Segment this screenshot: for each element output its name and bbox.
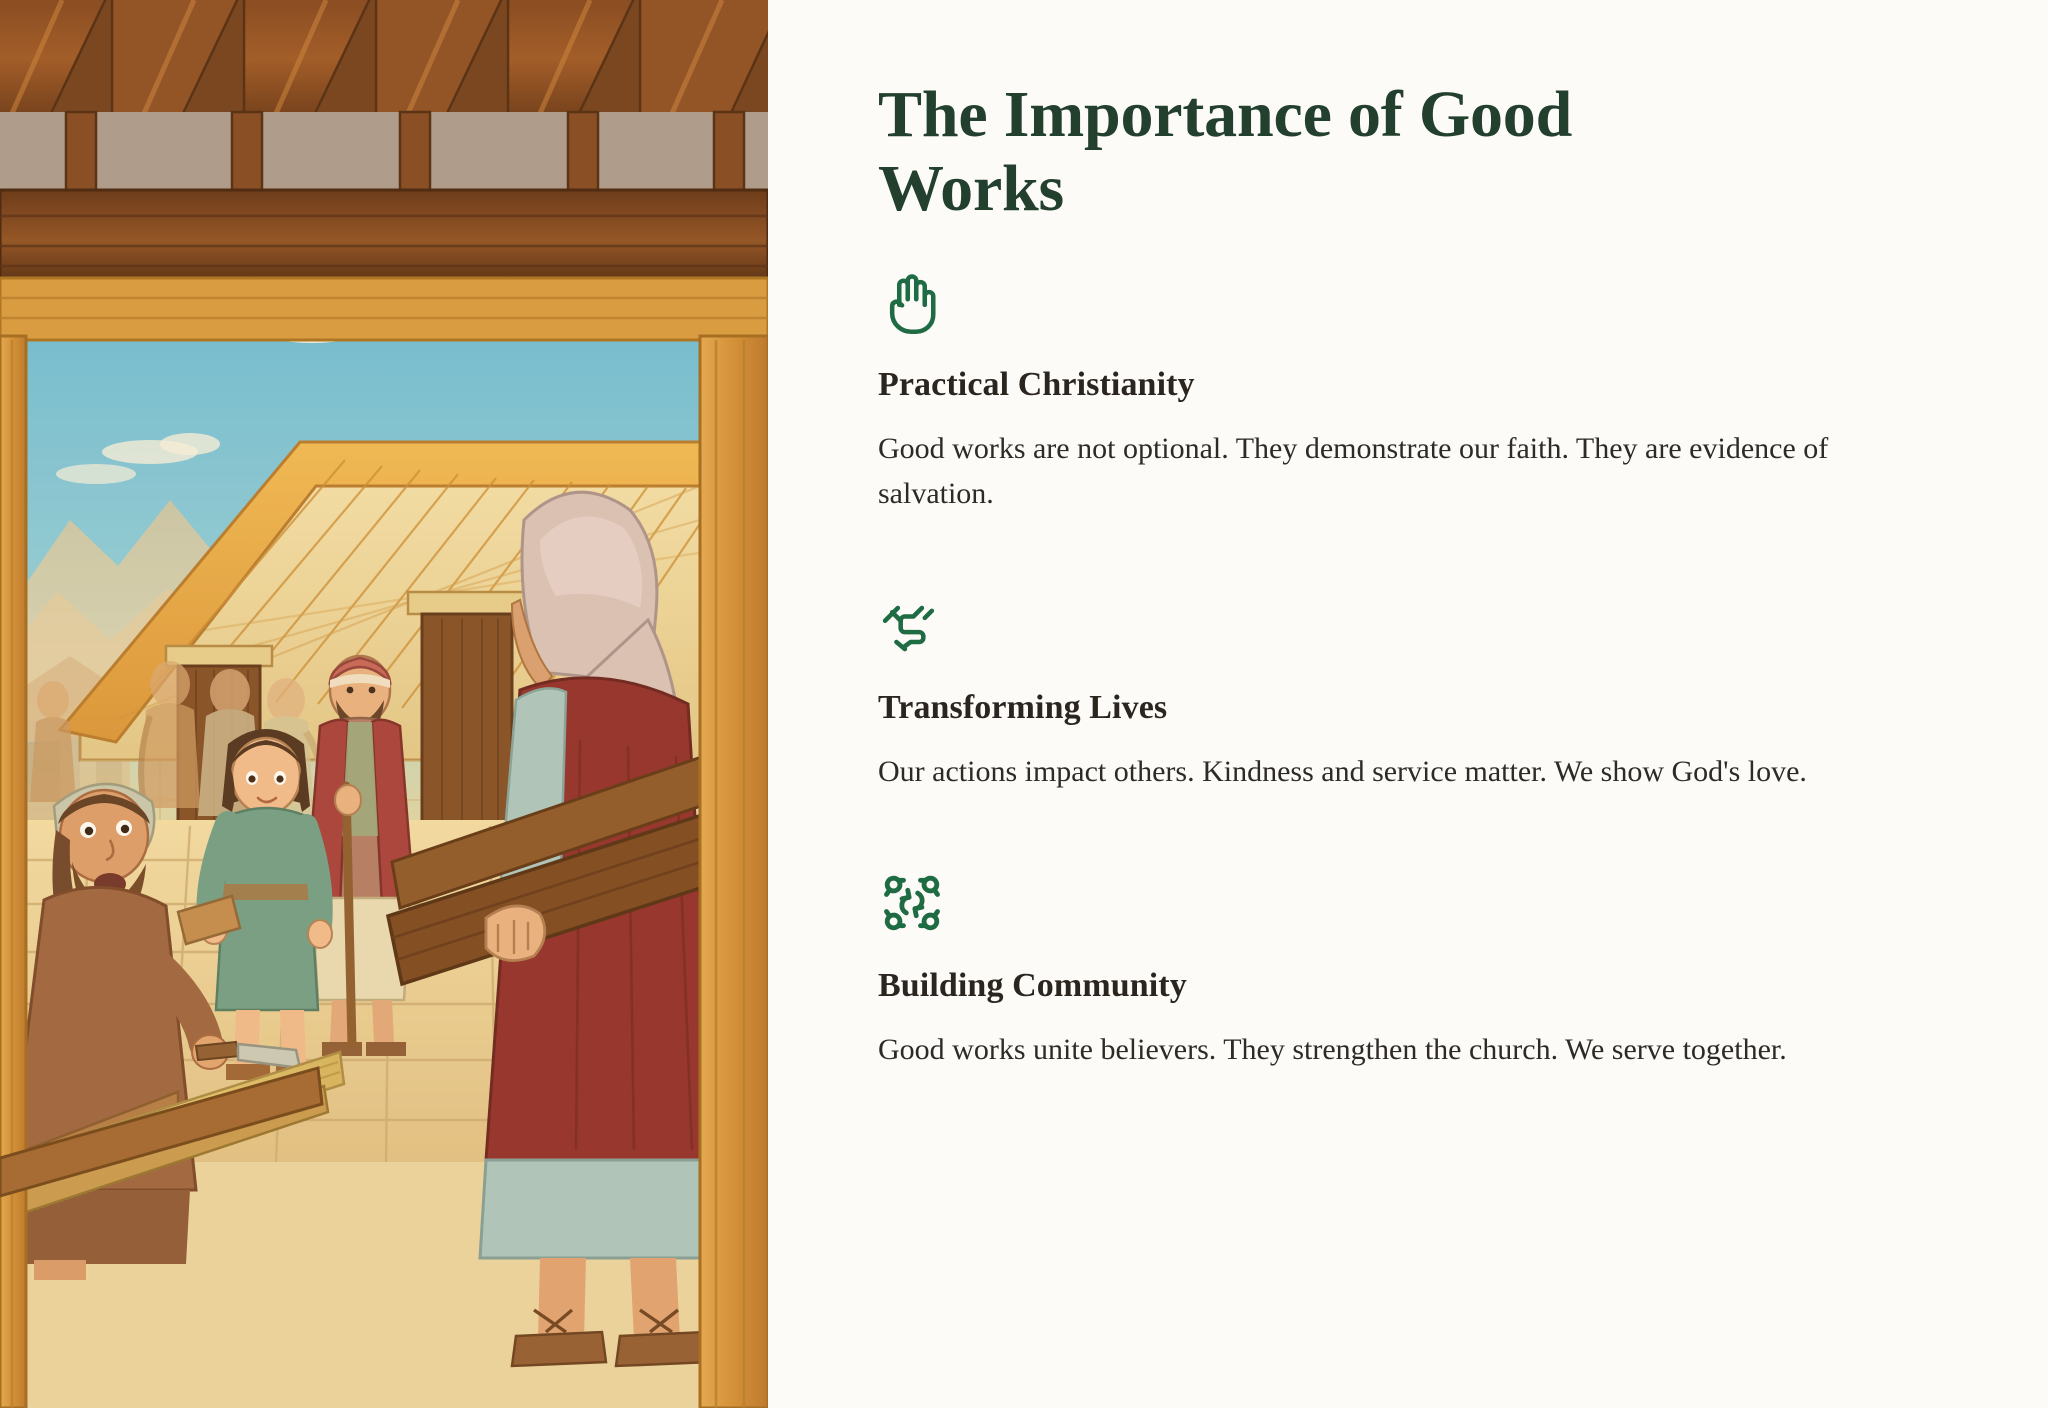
section-heading: Building Community — [878, 967, 1918, 1005]
section-heading: Transforming Lives — [878, 689, 1918, 727]
section-body: Our actions impact others. Kindness and … — [878, 749, 1918, 795]
illustration-artwork — [0, 0, 768, 1408]
scene-illustration — [0, 0, 768, 1408]
slide-root: The Importance of Good Works Practical C… — [0, 0, 2048, 1408]
page-title: The Importance of Good Works — [878, 78, 1738, 226]
content-panel: The Importance of Good Works Practical C… — [768, 0, 2048, 1408]
section-heading: Practical Christianity — [878, 366, 1918, 404]
section-building-community: Building Community Good works unite beli… — [878, 869, 1918, 1073]
section-body: Good works are not optional. They demons… — [878, 426, 1918, 517]
section-transforming-lives: Transforming Lives Our actions impact ot… — [878, 591, 1918, 795]
section-body: Good works unite believers. They strengt… — [878, 1027, 1918, 1073]
community-network-icon — [878, 869, 946, 937]
raised-hand-icon — [878, 268, 946, 336]
section-practical-christianity: Practical Christianity Good works are no… — [878, 268, 1918, 517]
section-list: Practical Christianity Good works are no… — [878, 268, 1918, 1072]
helping-hands-icon — [878, 591, 946, 659]
